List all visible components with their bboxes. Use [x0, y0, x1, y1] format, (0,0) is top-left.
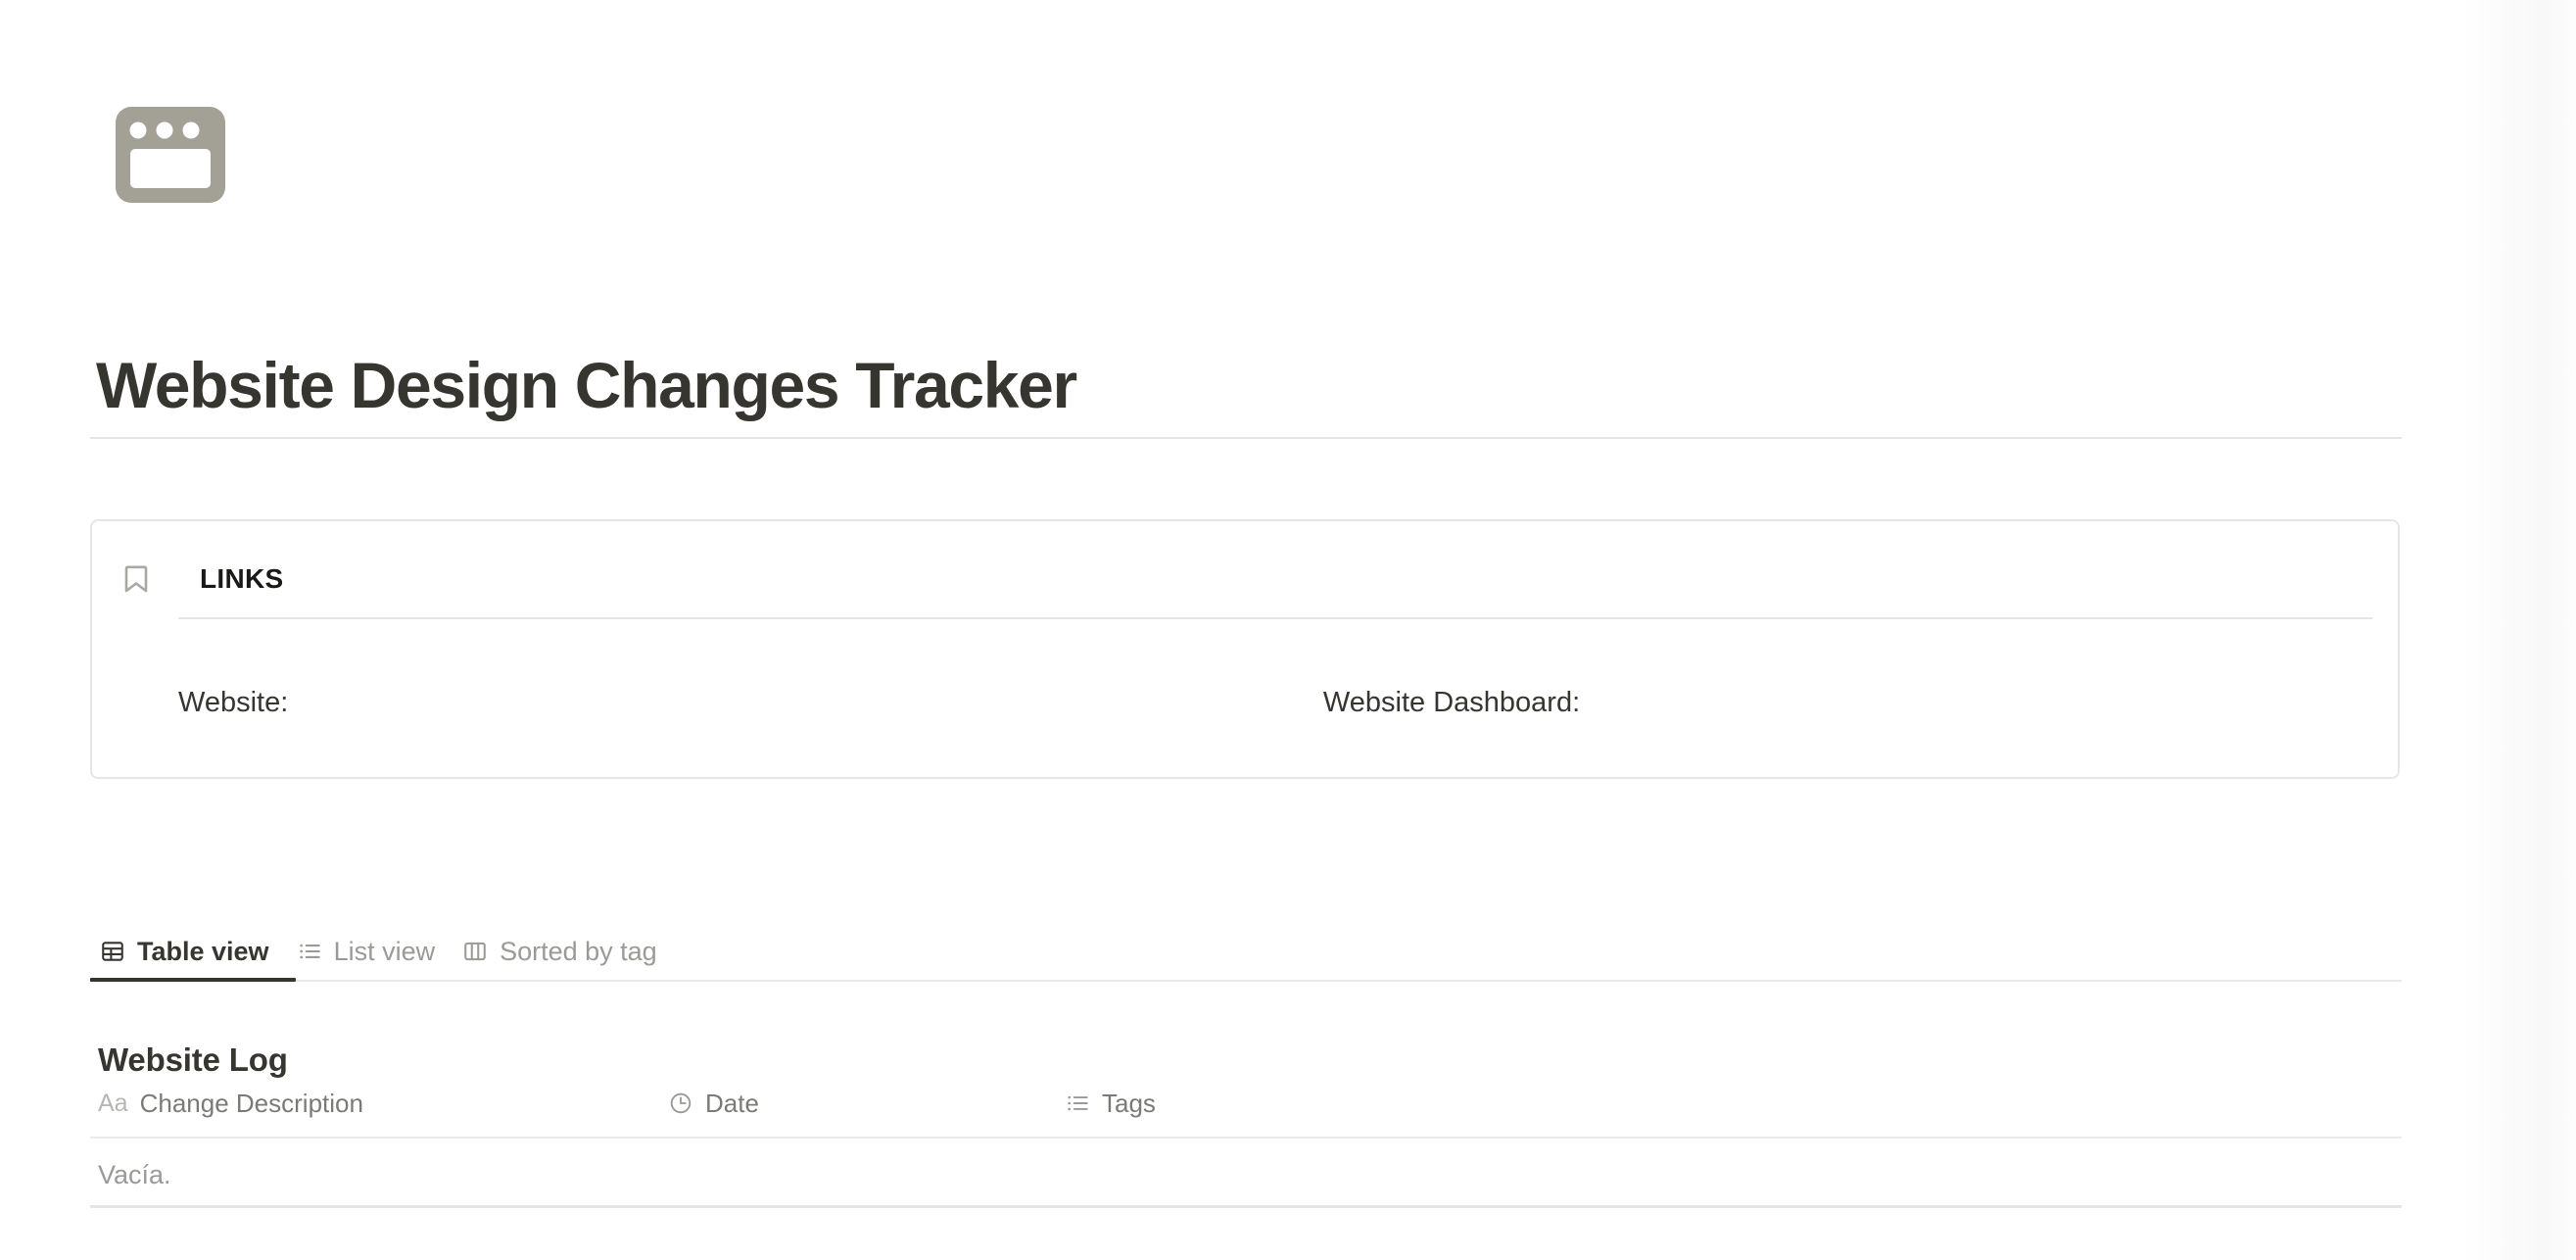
- board-columns-icon: [462, 939, 488, 964]
- links-fields-row: Website: Website Dashboard:: [92, 685, 2398, 720]
- column-header-change-description-label: Change Description: [140, 1089, 363, 1118]
- title-divider: [90, 437, 2402, 439]
- links-heading: LINKS: [200, 562, 283, 596]
- column-header-date-label: Date: [705, 1089, 759, 1118]
- table-grid-icon: [100, 939, 125, 964]
- tab-list-view-label: List view: [334, 937, 436, 966]
- browser-window-icon[interactable]: [108, 103, 233, 207]
- page-root: Website Design Changes Tracker LINKS Web…: [0, 0, 2576, 1260]
- table-row-divider-top: [90, 1137, 2402, 1139]
- tab-table-view[interactable]: Table view: [86, 921, 283, 982]
- table-row-divider-bottom: [90, 1205, 2402, 1208]
- column-header-date[interactable]: Date: [668, 1082, 759, 1125]
- text-aa-icon: Aa: [98, 1090, 128, 1116]
- column-header-tags-label: Tags: [1102, 1089, 1156, 1118]
- column-header-change-description[interactable]: Aa Change Description: [98, 1082, 363, 1125]
- tab-table-view-label: Table view: [137, 937, 269, 966]
- page-title[interactable]: Website Design Changes Tracker: [96, 347, 1076, 423]
- clock-icon: [668, 1090, 693, 1116]
- tab-list-view[interactable]: List view: [283, 921, 450, 982]
- table-header-row: Aa Change Description Date: [90, 1082, 2402, 1137]
- view-tabs: Table view List view: [86, 921, 671, 982]
- list-icon: [297, 939, 322, 964]
- database-title[interactable]: Website Log: [98, 1041, 288, 1080]
- tab-active-underline: [90, 978, 296, 982]
- website-link-label[interactable]: Website:: [178, 685, 1323, 720]
- links-card: LINKS Website: Website Dashboard:: [90, 519, 2400, 779]
- tab-sorted-by-tag-label: Sorted by tag: [500, 937, 657, 966]
- website-dashboard-link-label[interactable]: Website Dashboard:: [1323, 685, 2398, 720]
- tab-sorted-by-tag[interactable]: Sorted by tag: [449, 921, 671, 982]
- links-card-divider: [178, 617, 2372, 619]
- page-edge-shade: [2458, 0, 2576, 1260]
- table-empty-state[interactable]: Vacía.: [98, 1158, 171, 1191]
- bookmark-icon: [121, 562, 151, 596]
- column-header-tags[interactable]: Tags: [1065, 1082, 1156, 1125]
- tabs-divider: [90, 980, 2402, 982]
- links-card-header: LINKS: [121, 562, 283, 596]
- multi-select-list-icon: [1065, 1090, 1090, 1116]
